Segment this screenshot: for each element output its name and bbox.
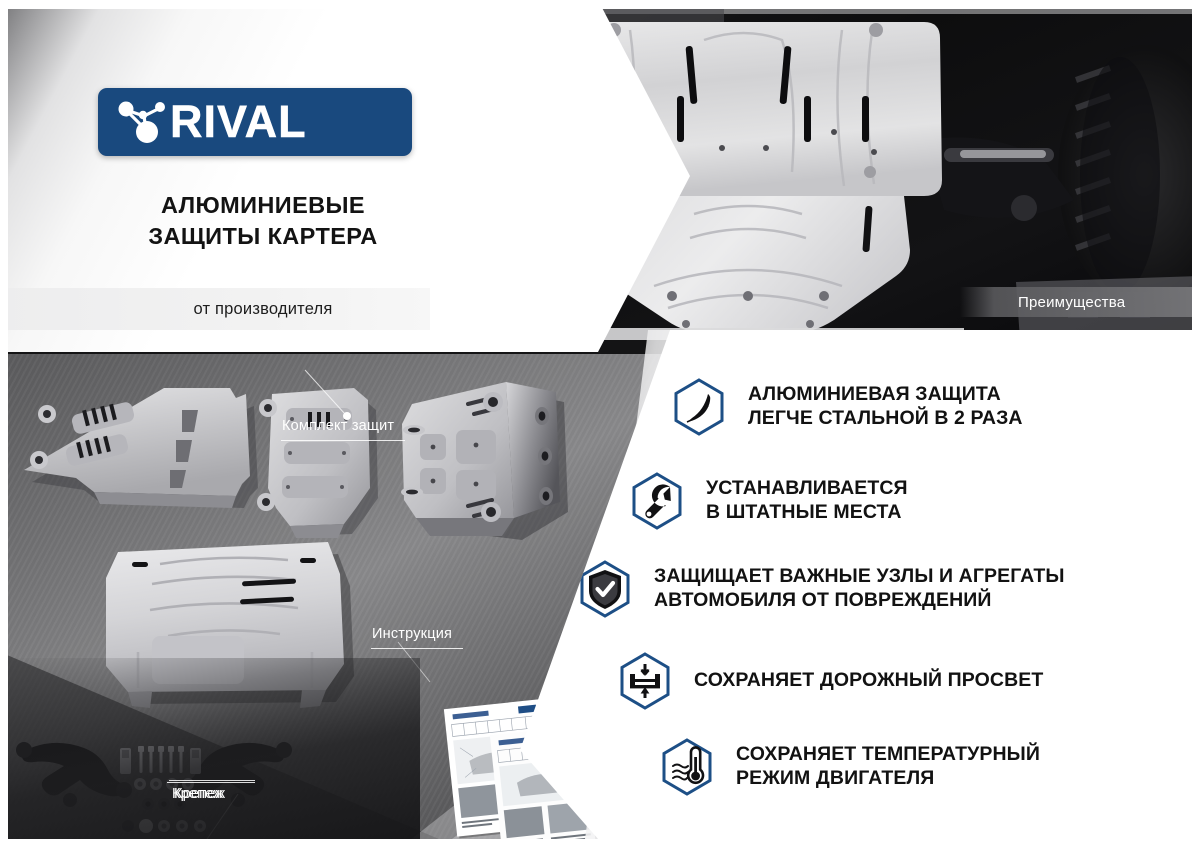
callout-instruction-rule xyxy=(371,648,463,649)
products-vignette xyxy=(0,658,420,848)
page-title: АЛЮМИНИЕВЫЕ ЗАЩИТЫ КАРТЕРА xyxy=(98,190,428,252)
advantage-label-install: УСТАНАВЛИВАЕТСЯ В ШТАТНЫЕ МЕСТА xyxy=(706,477,908,525)
advantage-item-temperature: СОХРАНЯЕТ ТЕМПЕРАТУРНЫЙ РЕЖИМ ДВИГАТЕЛЯ xyxy=(660,738,1040,796)
promo-banner: Преимущества RIVAL АЛЮМИНИЕВЫЕ ЗАЩИТЫ КА… xyxy=(0,0,1200,848)
molecule-icon xyxy=(116,98,168,146)
ground-clearance-icon xyxy=(618,652,672,710)
advantage-label-protection: ЗАЩИЩАЕТ ВАЖНЫЕ УЗЛЫ И АГРЕГАТЫ АВТОМОБИ… xyxy=(654,565,1065,613)
thermometer-icon xyxy=(660,738,714,796)
feather-icon xyxy=(672,378,726,436)
advantage-label-weight: АЛЮМИНИЕВАЯ ЗАЩИТА ЛЕГЧЕ СТАЛЬНОЙ В 2 РА… xyxy=(748,383,1023,431)
advantage-label-clearance: СОХРАНЯЕТ ДОРОЖНЫЙ ПРОСВЕТ xyxy=(694,669,1043,693)
shield-check-icon xyxy=(578,560,632,618)
label-fasteners-rule xyxy=(167,782,255,783)
advantage-item-clearance: СОХРАНЯЕТ ДОРОЖНЫЙ ПРОСВЕТ xyxy=(618,652,1043,710)
callout-fasteners: Крепеж xyxy=(174,786,225,802)
wrench-icon xyxy=(630,472,684,530)
header-panel: RIVAL АЛЮМИНИЕВЫЕ ЗАЩИТЫ КАРТЕРА от прои… xyxy=(0,0,690,352)
advantages-badge: Преимущества xyxy=(960,287,1200,317)
frame-top xyxy=(0,0,1200,9)
header-subtitle: от производителя xyxy=(193,300,332,319)
callout-skid-plate-set: Комплект защит xyxy=(282,418,394,434)
frame-right xyxy=(1192,0,1200,848)
callout-skid-plate-set-rule xyxy=(281,440,405,441)
advantage-item-protection: ЗАЩИЩАЕТ ВАЖНЫЕ УЗЛЫ И АГРЕГАТЫ АВТОМОБИ… xyxy=(578,560,1065,618)
advantages-badge-label: Преимущества xyxy=(1018,294,1125,311)
frame-left xyxy=(0,0,8,848)
header-subtitle-band: от производителя xyxy=(0,288,430,330)
callout-fasteners-rule xyxy=(169,780,255,781)
advantage-item-install: УСТАНАВЛИВАЕТСЯ В ШТАТНЫЕ МЕСТА xyxy=(630,472,908,530)
rival-logo: RIVAL xyxy=(98,88,412,156)
advantage-item-weight: АЛЮМИНИЕВАЯ ЗАЩИТА ЛЕГЧЕ СТАЛЬНОЙ В 2 РА… xyxy=(672,378,1023,436)
frame-bottom xyxy=(0,839,1200,848)
advantage-label-temperature: СОХРАНЯЕТ ТЕМПЕРАТУРНЫЙ РЕЖИМ ДВИГАТЕЛЯ xyxy=(736,743,1040,791)
rival-logo-text: RIVAL xyxy=(170,96,307,148)
callout-instruction: Инструкция xyxy=(372,626,452,642)
